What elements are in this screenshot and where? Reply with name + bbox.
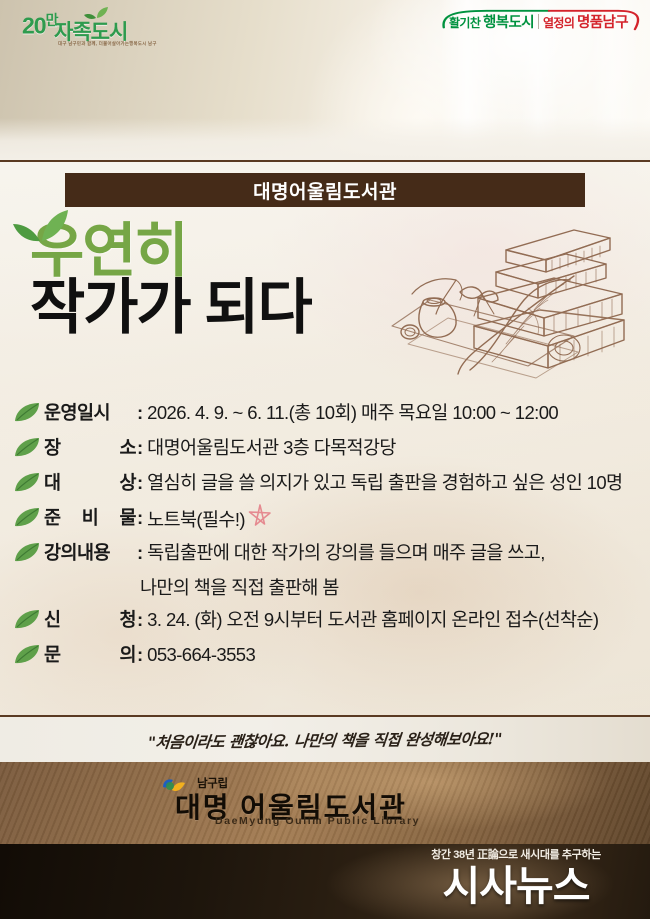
info-value: 노트북(필수!) (147, 503, 639, 538)
info-row-schedule: 운영일시 : 2026. 4. 9. ~ 6. 11.(총 10회) 매주 목요… (14, 398, 639, 433)
city-logo-line2: 자족도시 (54, 22, 127, 43)
info-colon: : (136, 433, 147, 463)
slogan-green-text: 활기찬 행복도시 (449, 11, 534, 32)
info-value: 053-664-3553 (147, 640, 639, 670)
slogan-separator (538, 14, 539, 29)
district-slogan: 활기찬 행복도시 열정의 명품남구 (441, 8, 638, 34)
poster: 20만 자족도시 대구 남구민과 함께, 더불어살아가는행복도시 남구 활기찬 … (0, 0, 650, 919)
city-logo: 20만 자족도시 대구 남구민과 함께, 더불어살아가는행복도시 남구 (22, 6, 172, 48)
info-label: 강의내용 (44, 538, 136, 568)
sprout-icon (12, 208, 70, 249)
info-colon: : (136, 398, 147, 428)
leaf-bullet-icon (14, 541, 41, 565)
tagline-strip: "처음이라도 괜찮아요. 나만의 책을 직접 완성해보아요!" (0, 717, 650, 762)
headline-line-2: 작가가 되다 (30, 276, 311, 340)
library-title-bar: 대명어울림도서관 (65, 173, 585, 207)
headline: 우연히 작가가 되다 (30, 220, 311, 340)
info-label: 신청 (44, 605, 136, 635)
city-logo-tagline: 대구 남구민과 함께, 더불어살아가는행복도시 남구 (58, 41, 157, 47)
main-panel: 대명어울림도서관 우연히 작가가 되다 (0, 162, 650, 715)
leaf-bullet-icon (14, 471, 41, 495)
slogan-red-text: 열정의 명품남구 (543, 11, 628, 32)
info-colon: : (136, 538, 147, 568)
info-colon: : (136, 468, 147, 498)
info-row-materials: 준비물 : 노트북(필수!) (14, 503, 639, 538)
info-row-content-line2: 나만의 책을 직접 출판해 봄 (14, 573, 639, 605)
news-tagline: 창간 38년 正論으로 새시대를 추구하는 (396, 846, 636, 862)
leaf-bullet-icon (14, 401, 41, 425)
info-row-content: 강의내용 : 독립출판에 대한 작가의 강의를 들으며 매주 글을 쓰고, (14, 538, 639, 573)
news-branding: 창간 38년 正論으로 새시대를 추구하는 시사뉴스 (396, 846, 636, 909)
leaf-bullet-icon (14, 608, 41, 632)
news-title: 시사뉴스 (396, 863, 636, 909)
footer-band: 남구립 대명 어울림도서관 DaeMyung Oulim Public Libr… (0, 762, 650, 844)
city-logo-number: 20만 (22, 9, 57, 38)
info-label: 장소 (44, 433, 136, 463)
info-label: 대상 (44, 468, 136, 498)
info-label: 준비물 (44, 503, 136, 533)
info-label: 문의 (44, 640, 136, 670)
info-row-contact: 문의 : 053-664-3553 (14, 640, 639, 675)
library-title-text: 대명어울림도서관 (253, 177, 397, 204)
info-list: 운영일시 : 2026. 4. 9. ~ 6. 11.(총 10회) 매주 목요… (14, 398, 639, 675)
info-colon: : (136, 503, 147, 533)
tagline-text: "처음이라도 괜찮아요. 나만의 책을 직접 완성해보아요!" (147, 727, 503, 753)
news-bar: 창간 38년 正論으로 새시대를 추구하는 시사뉴스 (0, 844, 650, 919)
info-row-target: 대상 : 열심히 글을 쓸 의지가 있고 독립 출판을 경험하고 싶은 성인 1… (14, 468, 639, 503)
header-band: 20만 자족도시 대구 남구민과 함께, 더불어살아가는행복도시 남구 활기찬 … (0, 0, 650, 160)
info-row-application: 신청 : 3. 24. (화) 오전 9시부터 도서관 홈페이지 온라인 접수(… (14, 605, 639, 640)
info-colon: : (136, 605, 147, 635)
info-row-place: 장소 : 대명어울림도서관 3층 다목적강당 (14, 433, 639, 468)
info-value: 독립출판에 대한 작가의 강의를 들으며 매주 글을 쓰고, (147, 538, 639, 568)
info-label: 운영일시 (44, 398, 136, 428)
library-name-english: DaeMyung Oulim Public Library (215, 815, 420, 827)
info-value: 3. 24. (화) 오전 9시부터 도서관 홈페이지 온라인 접수(선착순) (147, 605, 639, 635)
leaf-bullet-icon (14, 643, 41, 667)
headline-line-1: 우연히 (30, 220, 311, 282)
leaf-bullet-icon (14, 436, 41, 460)
info-value: 대명어울림도서관 3층 다목적강당 (147, 433, 639, 463)
info-colon: : (136, 640, 147, 670)
pink-star-doodle-icon (247, 503, 273, 538)
leaf-bullet-icon (14, 506, 41, 530)
info-value: 2026. 4. 9. ~ 6. 11.(총 10회) 매주 목요일 10:00… (147, 398, 639, 428)
info-value-continuation: 나만의 책을 직접 출판해 봄 (44, 573, 339, 603)
books-quill-inkwell-illustration (378, 214, 640, 384)
info-value: 열심히 글을 쓸 의지가 있고 독립 출판을 경험하고 싶은 성인 10명 (147, 468, 639, 498)
library-logo: 남구립 대명 어울림도서관 DaeMyung Oulim Public Libr… (155, 768, 485, 830)
